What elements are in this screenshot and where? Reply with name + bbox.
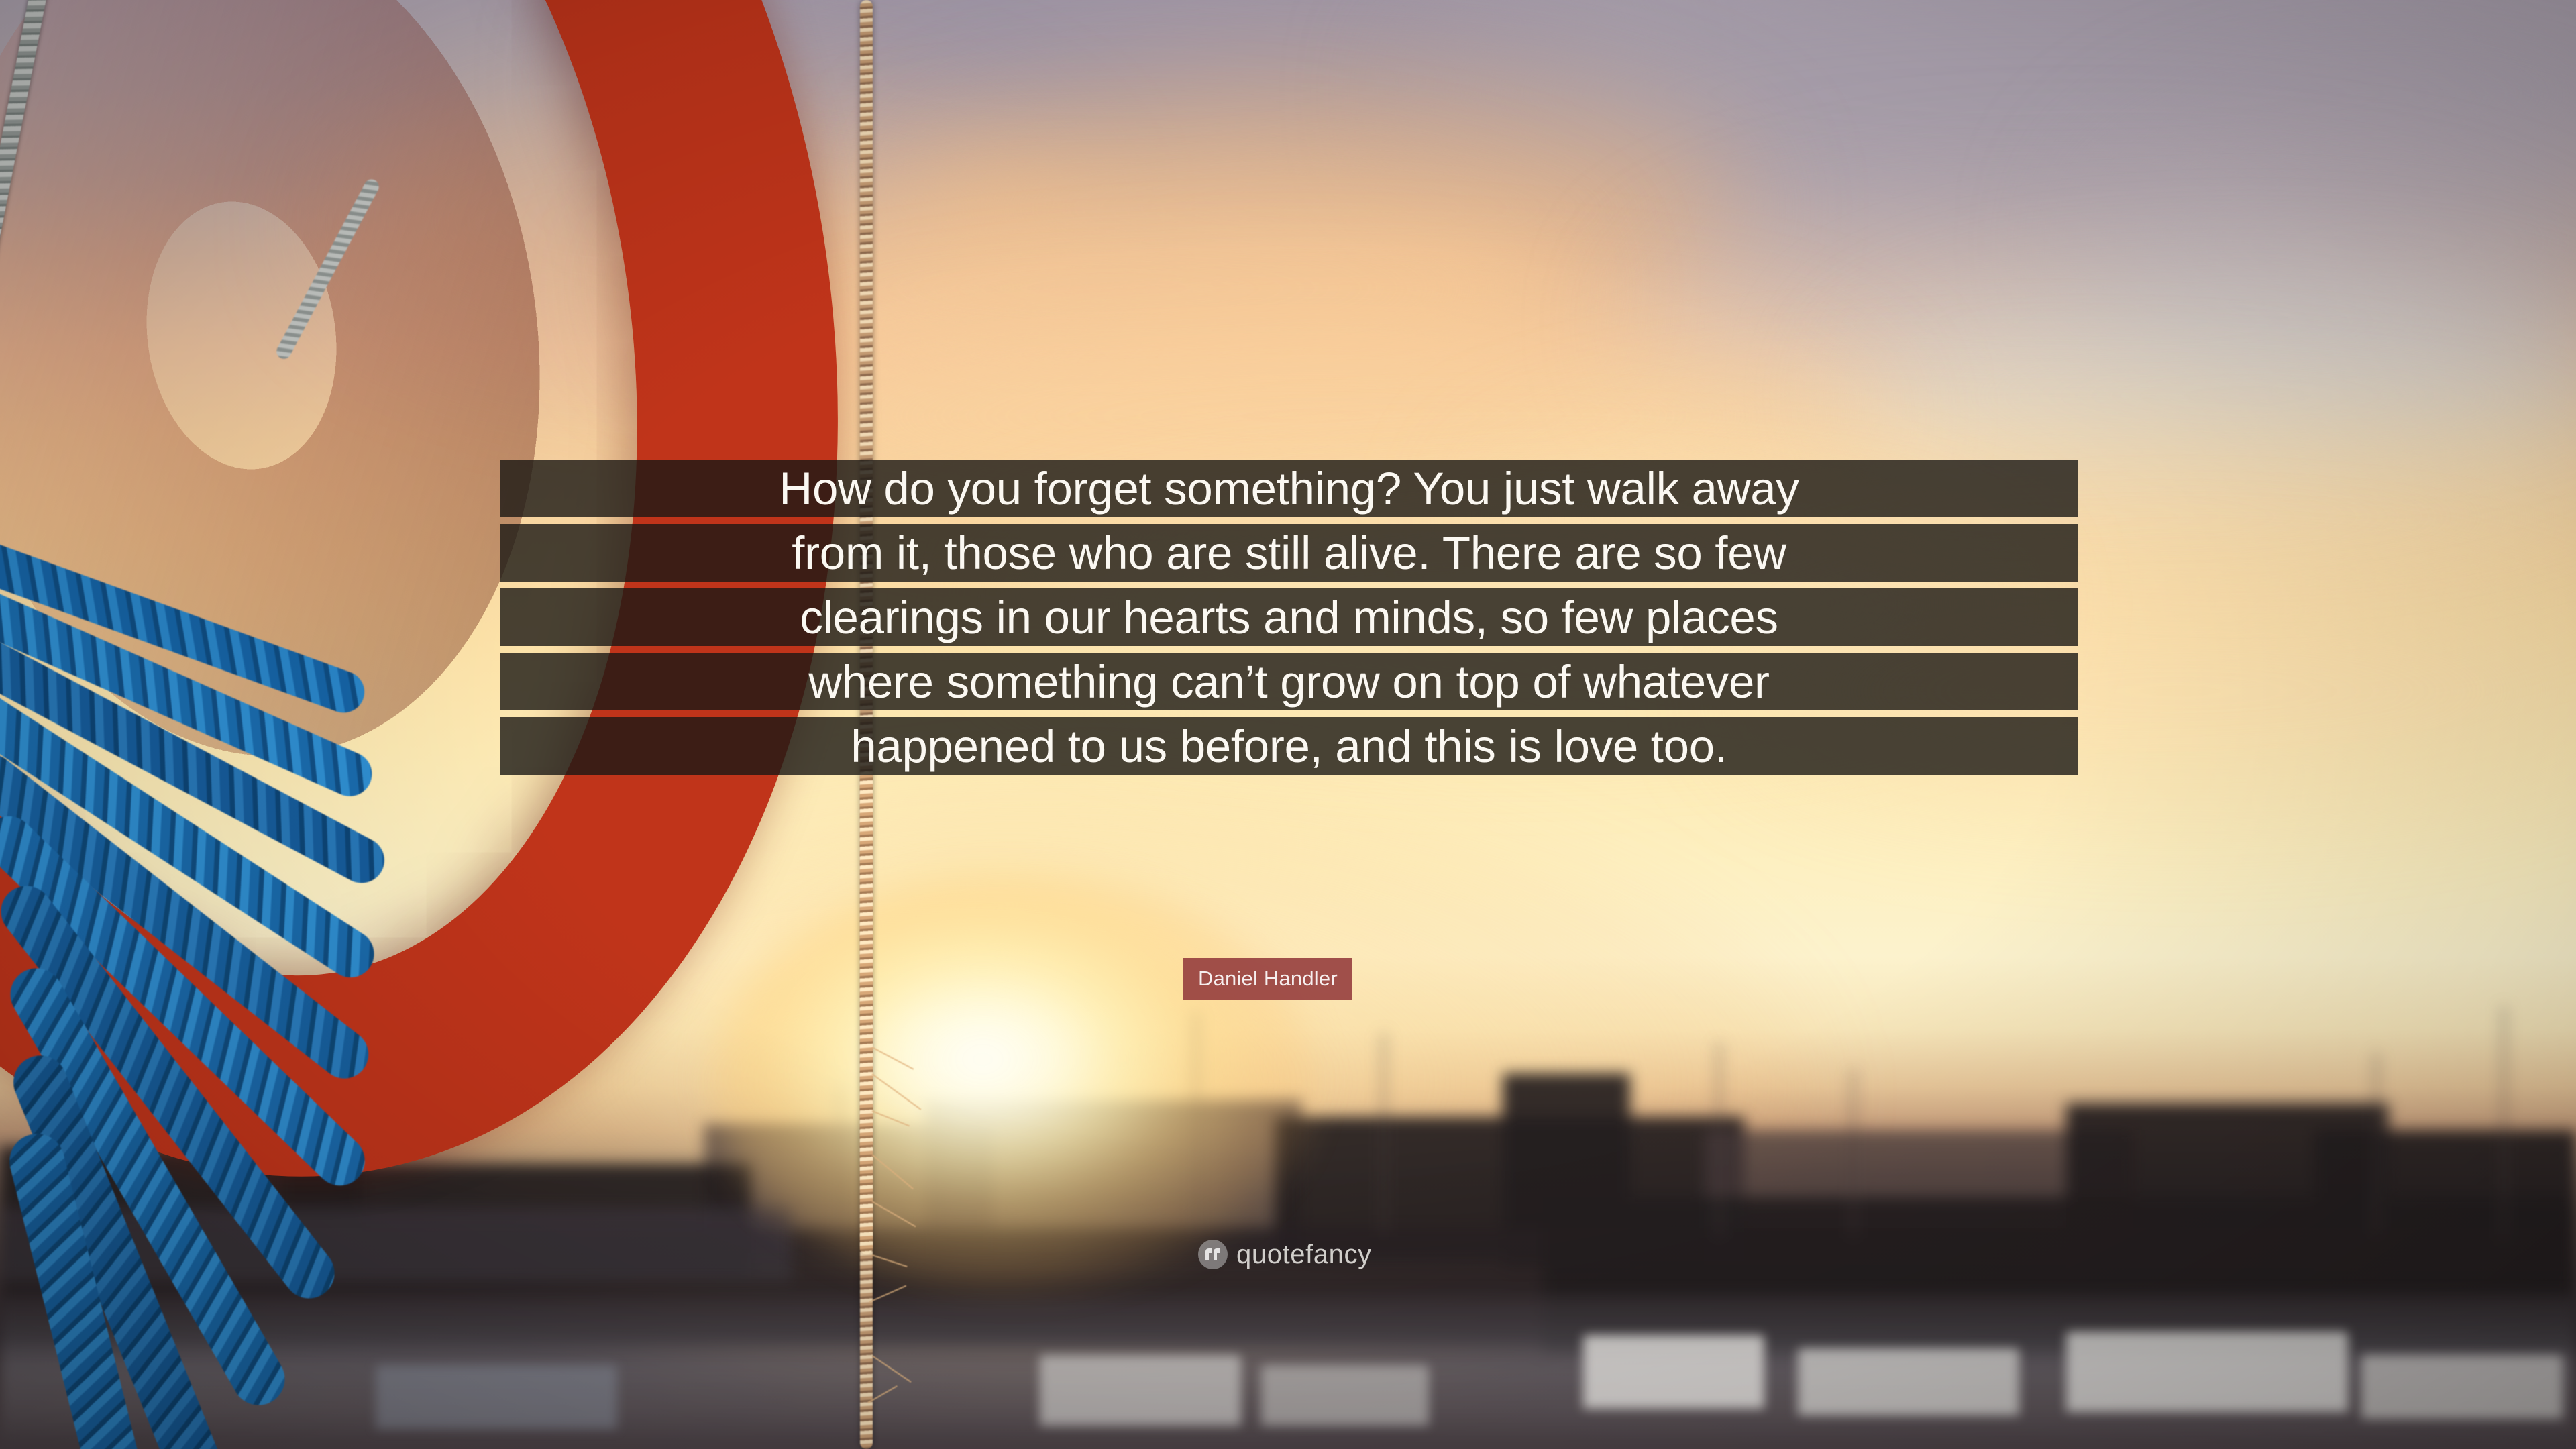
author-badge: Daniel Handler [1183,958,1352,1000]
quote-line: clearings in our hearts and minds, so fe… [500,588,2078,646]
boat [1798,1348,2019,1415]
quote-poster: How do you forget something? You just wa… [0,0,2576,1449]
quote-text-block: How do you forget something? You just wa… [500,460,2078,775]
boat [376,1365,617,1429]
boat [2361,1355,2563,1419]
boat [2066,1332,2348,1412]
quote-line: How do you forget something? You just wa… [500,460,2078,517]
boat [1040,1355,1241,1426]
quote-line: from it, those who are still alive. Ther… [500,524,2078,582]
boat [1261,1365,1429,1426]
watermark-brand: quotefancy [1236,1241,1372,1268]
hanging-rope-highlight [860,771,873,1254]
quote-line: happened to us before, and this is love … [500,717,2078,775]
watermark: quotefancy [1198,1240,1372,1269]
boat [1583,1335,1764,1409]
quote-line: where something can’t grow on top of wha… [500,653,2078,710]
quote-mark-icon [1198,1240,1228,1269]
